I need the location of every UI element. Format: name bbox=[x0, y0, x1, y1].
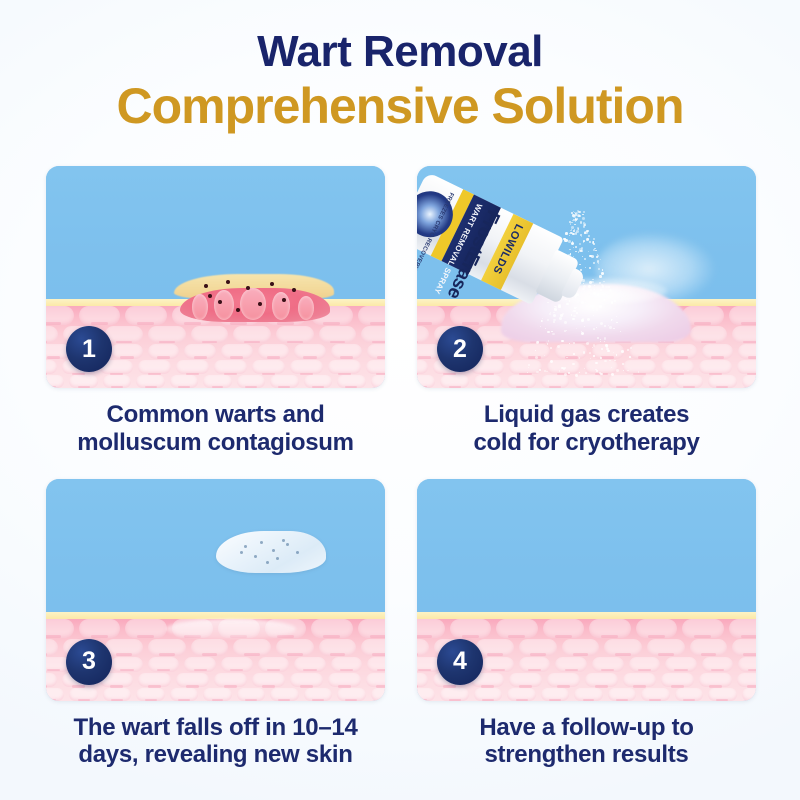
spray-particle bbox=[607, 350, 609, 352]
skin-cell bbox=[221, 657, 253, 672]
skin-cell bbox=[608, 688, 636, 701]
spray-particle bbox=[527, 372, 528, 373]
skin-cell bbox=[176, 673, 209, 687]
spray-particle bbox=[593, 315, 594, 316]
page-title-primary: Wart Removal bbox=[0, 30, 800, 74]
skin-cell bbox=[450, 306, 492, 325]
spray-particle bbox=[638, 371, 640, 373]
skin-cell bbox=[148, 657, 180, 672]
spray-particle bbox=[616, 369, 619, 372]
skin-cell bbox=[604, 639, 642, 656]
skin-cell bbox=[482, 344, 514, 359]
skin-cell bbox=[233, 326, 271, 343]
skin-cell bbox=[176, 360, 209, 374]
stratum-corneum-layer bbox=[417, 612, 756, 619]
spray-particle bbox=[600, 341, 601, 342]
spray-particle bbox=[578, 211, 581, 214]
spray-particle bbox=[573, 315, 576, 318]
skin-cell bbox=[105, 326, 143, 343]
spray-particle bbox=[620, 331, 621, 332]
spray-particle bbox=[569, 235, 571, 237]
spray-particle bbox=[581, 236, 582, 237]
spray-particle bbox=[573, 230, 575, 232]
skin-cell bbox=[507, 375, 535, 388]
skin-cell bbox=[361, 326, 385, 343]
spray-particle bbox=[593, 238, 595, 240]
spray-particle bbox=[536, 341, 539, 344]
skin-cell bbox=[191, 639, 229, 656]
step-image-1: 1 bbox=[46, 166, 385, 388]
skin-cell bbox=[367, 344, 385, 359]
skin-cell bbox=[191, 326, 229, 343]
stratum-corneum-layer bbox=[46, 612, 385, 619]
skin-cell bbox=[737, 360, 756, 374]
skin-cell bbox=[742, 375, 756, 388]
skin-cell bbox=[304, 688, 332, 701]
step-image-3: 3 bbox=[46, 479, 385, 701]
skin-cell bbox=[702, 657, 734, 672]
skin-cell-row bbox=[417, 619, 756, 638]
scab-fleck bbox=[276, 557, 279, 560]
skin-cell bbox=[237, 688, 265, 701]
spray-particle bbox=[581, 319, 583, 321]
skin-cell bbox=[328, 673, 361, 687]
step-caption-2-line1: Liquid gas creates bbox=[417, 401, 756, 429]
skin-cell bbox=[541, 375, 569, 388]
spray-particle bbox=[611, 301, 614, 304]
skin-cell bbox=[79, 619, 121, 638]
spray-particle bbox=[582, 214, 584, 216]
spray-particle bbox=[597, 337, 599, 339]
header-titles: Wart Removal Comprehensive Solution bbox=[0, 0, 800, 134]
spray-particle bbox=[584, 232, 586, 234]
skin-cell bbox=[138, 673, 171, 687]
skin-cell bbox=[675, 688, 703, 701]
spray-particle bbox=[588, 285, 591, 288]
step-image-4: 4 bbox=[417, 479, 756, 701]
skin-cell bbox=[682, 619, 724, 638]
wart-papilla bbox=[214, 290, 234, 320]
new-skin-patch bbox=[166, 619, 296, 639]
step-card-2: LOWILDS FrostErase WART REMOVAL SPRAY FR… bbox=[417, 166, 756, 457]
spray-particle bbox=[590, 289, 592, 291]
step-badge-1: 1 bbox=[66, 326, 112, 372]
spray-particle bbox=[611, 367, 612, 368]
spray-particle bbox=[593, 310, 594, 311]
skin-cell bbox=[547, 673, 580, 687]
skin-cell bbox=[562, 639, 600, 656]
capillary-dot bbox=[246, 286, 250, 290]
spray-particle bbox=[547, 319, 549, 321]
spray-particle bbox=[588, 235, 590, 237]
skin-cell bbox=[337, 375, 365, 388]
spray-particle bbox=[598, 268, 601, 271]
skin-cell bbox=[233, 639, 271, 656]
skin-cell bbox=[737, 673, 756, 687]
spray-particle bbox=[593, 292, 596, 295]
scab-fleck bbox=[282, 539, 285, 542]
spray-particle bbox=[622, 363, 625, 366]
skin-cell bbox=[148, 344, 180, 359]
steps-grid: 1 Common warts and molluscum contagiosum bbox=[46, 166, 756, 769]
spray-particle bbox=[577, 227, 580, 230]
skin-cell bbox=[690, 639, 728, 656]
skin-cell bbox=[337, 688, 365, 701]
skin-cell bbox=[543, 619, 585, 638]
skin-cell bbox=[294, 344, 326, 359]
spray-particle bbox=[605, 344, 608, 347]
skin-cell bbox=[367, 657, 385, 672]
skin-cell bbox=[79, 306, 121, 325]
spray-particle bbox=[604, 337, 607, 340]
skin-cell bbox=[732, 639, 756, 656]
spray-particle bbox=[539, 369, 541, 371]
skin-cell bbox=[184, 657, 216, 672]
spray-particle bbox=[580, 221, 583, 224]
skin-cell bbox=[555, 657, 587, 672]
skin-cell bbox=[371, 375, 385, 388]
spray-particle bbox=[579, 357, 581, 359]
spray-particle bbox=[616, 316, 617, 317]
step-card-4: 4 Have a follow-up to strengthen results bbox=[417, 479, 756, 770]
step-caption-4-line2: strengthen results bbox=[417, 741, 756, 769]
spray-particle bbox=[583, 351, 586, 354]
spray-particle bbox=[564, 373, 567, 376]
spray-particle bbox=[609, 360, 610, 361]
spray-particle bbox=[595, 250, 597, 252]
spray-particle bbox=[586, 342, 589, 345]
skin-cell bbox=[276, 639, 314, 656]
skin-cell bbox=[636, 619, 678, 638]
skin-cell bbox=[623, 673, 656, 687]
capillary-dot bbox=[282, 298, 286, 302]
skin-cell bbox=[474, 375, 502, 388]
skin-cell bbox=[647, 639, 685, 656]
scab-fleck bbox=[244, 545, 247, 548]
skin-cell bbox=[440, 688, 468, 701]
spray-particle bbox=[581, 332, 584, 335]
spray-particle bbox=[598, 263, 599, 264]
wart-papilla bbox=[272, 292, 290, 320]
step-caption-4-line1: Have a follow-up to bbox=[417, 714, 756, 742]
skin-cell bbox=[46, 360, 57, 374]
spray-particle bbox=[602, 269, 604, 271]
scab-fleck bbox=[272, 549, 275, 552]
spray-particle bbox=[613, 352, 614, 353]
spray-particle bbox=[585, 372, 587, 374]
spray-particle bbox=[607, 295, 610, 298]
spray-particle bbox=[611, 373, 614, 376]
spray-particle bbox=[579, 243, 581, 245]
skin-cell bbox=[170, 375, 198, 388]
page-title-secondary: Comprehensive Solution bbox=[0, 78, 800, 134]
spray-particle bbox=[596, 370, 598, 372]
spray-particle bbox=[616, 322, 617, 323]
skin-cell-row bbox=[417, 688, 756, 701]
spray-particle bbox=[616, 354, 618, 356]
spray-particle bbox=[573, 342, 574, 343]
infographic-page: Wart Removal Comprehensive Solution 1 Co… bbox=[0, 0, 800, 800]
skin-cell bbox=[371, 688, 385, 701]
skin-cell bbox=[507, 688, 535, 701]
step-caption-3: The wart falls off in 10–14 days, reveal… bbox=[46, 714, 385, 770]
skin-cell bbox=[358, 619, 386, 638]
spray-particle bbox=[597, 293, 599, 295]
spray-particle bbox=[553, 319, 556, 322]
capillary-dot bbox=[218, 300, 222, 304]
spray-particle bbox=[599, 275, 602, 278]
skin-cell bbox=[319, 639, 357, 656]
spray-particle bbox=[547, 331, 550, 334]
spray-particle bbox=[576, 312, 578, 314]
skin-cell bbox=[203, 375, 231, 388]
skin-cell bbox=[103, 375, 131, 388]
skin-cell bbox=[708, 688, 736, 701]
skin-cell bbox=[699, 673, 732, 687]
skin-cell bbox=[111, 657, 143, 672]
spray-particle bbox=[623, 370, 624, 371]
spray-particle bbox=[572, 363, 575, 366]
spray-particle bbox=[595, 362, 598, 365]
spray-particle bbox=[566, 357, 568, 359]
spray-particle bbox=[570, 223, 571, 224]
air-region bbox=[417, 479, 756, 612]
wart-papilla bbox=[298, 296, 314, 320]
spray-particle bbox=[596, 327, 597, 328]
spray-particle bbox=[611, 319, 613, 321]
wart-papilla bbox=[192, 294, 208, 320]
skin-cell bbox=[111, 344, 143, 359]
scab-fleck bbox=[266, 561, 269, 564]
spray-particle bbox=[572, 222, 573, 223]
spray-particle bbox=[604, 341, 605, 342]
skin-cell bbox=[319, 326, 357, 343]
spray-particle bbox=[536, 371, 539, 374]
skin-cell bbox=[46, 688, 64, 701]
spray-particle bbox=[605, 286, 607, 288]
spray-particle bbox=[629, 356, 631, 358]
skin-cell bbox=[738, 344, 756, 359]
spray-particle bbox=[604, 360, 607, 363]
spray-particle bbox=[592, 307, 594, 309]
skin-cell bbox=[294, 657, 326, 672]
skin-cell bbox=[103, 688, 131, 701]
skin-cell bbox=[270, 688, 298, 701]
spray-particle bbox=[600, 339, 601, 340]
step-caption-3-line1: The wart falls off in 10–14 bbox=[46, 714, 385, 742]
spray-particle bbox=[600, 322, 603, 325]
spray-particle bbox=[541, 320, 543, 322]
skin-cell bbox=[450, 619, 492, 638]
spray-particle bbox=[582, 288, 585, 291]
spray-particle bbox=[584, 368, 585, 369]
spray-particle bbox=[630, 347, 633, 350]
spray-particle bbox=[571, 212, 573, 214]
skin-cell bbox=[417, 375, 435, 388]
scab-fleck bbox=[254, 555, 257, 558]
skin-cell bbox=[148, 639, 186, 656]
skin-cell-row bbox=[46, 375, 385, 388]
spray-particle bbox=[572, 311, 573, 312]
capillary-dot bbox=[292, 288, 296, 292]
capillary-dot bbox=[258, 302, 262, 306]
step-card-3: 3 The wart falls off in 10–14 days, reve… bbox=[46, 479, 385, 770]
skin-cell bbox=[417, 673, 428, 687]
spray-particle bbox=[614, 360, 615, 361]
skin-cell bbox=[641, 688, 669, 701]
spray-particle bbox=[593, 344, 595, 346]
spray-particle bbox=[627, 370, 629, 372]
step-caption-2-line2: cold for cryotherapy bbox=[417, 429, 756, 457]
capillary-dot bbox=[208, 294, 212, 298]
spray-particle bbox=[583, 211, 585, 213]
spray-particle bbox=[565, 232, 568, 235]
scab-fleck bbox=[240, 551, 243, 554]
spray-particle bbox=[590, 358, 591, 359]
wart-lesion-icon bbox=[174, 274, 334, 322]
skin-cell bbox=[417, 639, 429, 656]
spray-particle bbox=[584, 291, 585, 292]
spray-particle bbox=[627, 349, 629, 351]
spray-particle bbox=[604, 325, 606, 327]
spray-particle bbox=[569, 221, 571, 223]
detached-scab-icon bbox=[216, 531, 326, 573]
skin-cell bbox=[361, 639, 385, 656]
skin-cell bbox=[574, 688, 602, 701]
step-caption-3-line2: days, revealing new skin bbox=[46, 741, 385, 769]
skin-cell bbox=[592, 657, 624, 672]
air-region bbox=[46, 479, 385, 612]
skin-cell bbox=[46, 673, 57, 687]
skin-cell bbox=[328, 360, 361, 374]
spray-particle bbox=[542, 318, 543, 319]
skin-cell bbox=[729, 619, 757, 638]
skin-cell bbox=[311, 619, 353, 638]
spray-particle bbox=[593, 355, 594, 356]
spray-particle bbox=[568, 372, 571, 375]
spray-particle bbox=[535, 356, 538, 359]
spray-particle bbox=[609, 326, 612, 329]
spray-particle bbox=[582, 217, 585, 220]
skin-cell bbox=[46, 326, 58, 343]
skin-cell bbox=[417, 326, 429, 343]
skin-cell bbox=[331, 657, 363, 672]
skin-cell bbox=[509, 673, 542, 687]
skin-cell-row bbox=[46, 688, 385, 701]
skin-cell bbox=[519, 657, 551, 672]
skin-cell bbox=[729, 306, 757, 325]
skin-cell bbox=[629, 657, 661, 672]
skin-cell bbox=[519, 639, 557, 656]
skin-cell bbox=[496, 619, 538, 638]
skin-cell bbox=[258, 657, 290, 672]
spray-particle bbox=[600, 259, 601, 260]
skin-cell bbox=[105, 639, 143, 656]
capillary-dot bbox=[270, 282, 274, 286]
spray-particle bbox=[574, 224, 575, 225]
spray-particle bbox=[603, 281, 604, 282]
spray-particle bbox=[610, 297, 611, 298]
skin-cell bbox=[589, 619, 631, 638]
skin-cell bbox=[46, 639, 58, 656]
step-image-2: LOWILDS FrostErase WART REMOVAL SPRAY FR… bbox=[417, 166, 756, 388]
spray-particle bbox=[575, 221, 577, 223]
skin-cell bbox=[46, 375, 64, 388]
skin-cell bbox=[417, 306, 445, 325]
spray-particle bbox=[577, 214, 580, 217]
skin-cell bbox=[665, 657, 697, 672]
spray-particle bbox=[589, 352, 591, 354]
step-badge-4: 4 bbox=[437, 639, 483, 685]
skin-cell bbox=[738, 657, 756, 672]
spray-particle bbox=[579, 372, 580, 373]
skin-cell bbox=[138, 360, 171, 374]
spray-particle bbox=[572, 318, 575, 321]
skin-cell bbox=[358, 306, 386, 325]
spray-particle bbox=[621, 350, 624, 353]
skin-cell bbox=[252, 673, 285, 687]
skin-cell bbox=[46, 619, 74, 638]
step-badge-2: 2 bbox=[437, 326, 483, 372]
capillary-dot bbox=[226, 280, 230, 284]
skin-cell bbox=[136, 375, 164, 388]
spray-particle bbox=[585, 302, 586, 303]
skin-cell bbox=[203, 688, 231, 701]
skin-cell bbox=[170, 688, 198, 701]
spray-particle bbox=[546, 371, 547, 372]
skin-cell bbox=[276, 326, 314, 343]
step-caption-2: Liquid gas creates cold for cryotherapy bbox=[417, 401, 756, 457]
spray-particle bbox=[594, 289, 596, 291]
skin-cell bbox=[331, 344, 363, 359]
scab-fleck bbox=[296, 551, 299, 554]
skin-cell bbox=[214, 673, 247, 687]
spray-particle bbox=[600, 289, 602, 291]
step-caption-1-line1: Common warts and bbox=[46, 401, 385, 429]
capillary-dot bbox=[236, 308, 240, 312]
skin-cell bbox=[237, 375, 265, 388]
skin-cell bbox=[221, 344, 253, 359]
skin-cell bbox=[304, 375, 332, 388]
spray-particle bbox=[599, 305, 602, 308]
step-card-1: 1 Common warts and molluscum contagiosum bbox=[46, 166, 385, 457]
skin-cell bbox=[417, 360, 428, 374]
spray-particle bbox=[587, 318, 590, 321]
skin-cell bbox=[148, 326, 186, 343]
spray-particle bbox=[551, 331, 552, 332]
spray-particle bbox=[576, 328, 578, 330]
spray-particle bbox=[559, 370, 560, 371]
skin-cell bbox=[661, 673, 694, 687]
skin-cell bbox=[252, 360, 285, 374]
skin-cell bbox=[46, 306, 74, 325]
skin-cell bbox=[258, 344, 290, 359]
skin-cell bbox=[440, 375, 468, 388]
spray-particle bbox=[593, 328, 595, 330]
skin-cell bbox=[541, 688, 569, 701]
skin-cell bbox=[366, 360, 385, 374]
spray-particle bbox=[599, 372, 601, 374]
skin-cell bbox=[214, 360, 247, 374]
skin-cell bbox=[366, 673, 385, 687]
skin-cell bbox=[270, 375, 298, 388]
spray-particle bbox=[600, 357, 602, 359]
skin-cell bbox=[125, 306, 167, 325]
wart-papilla bbox=[240, 288, 266, 320]
skin-cell bbox=[184, 344, 216, 359]
scab-fleck bbox=[260, 541, 263, 544]
skin-cell bbox=[290, 673, 323, 687]
